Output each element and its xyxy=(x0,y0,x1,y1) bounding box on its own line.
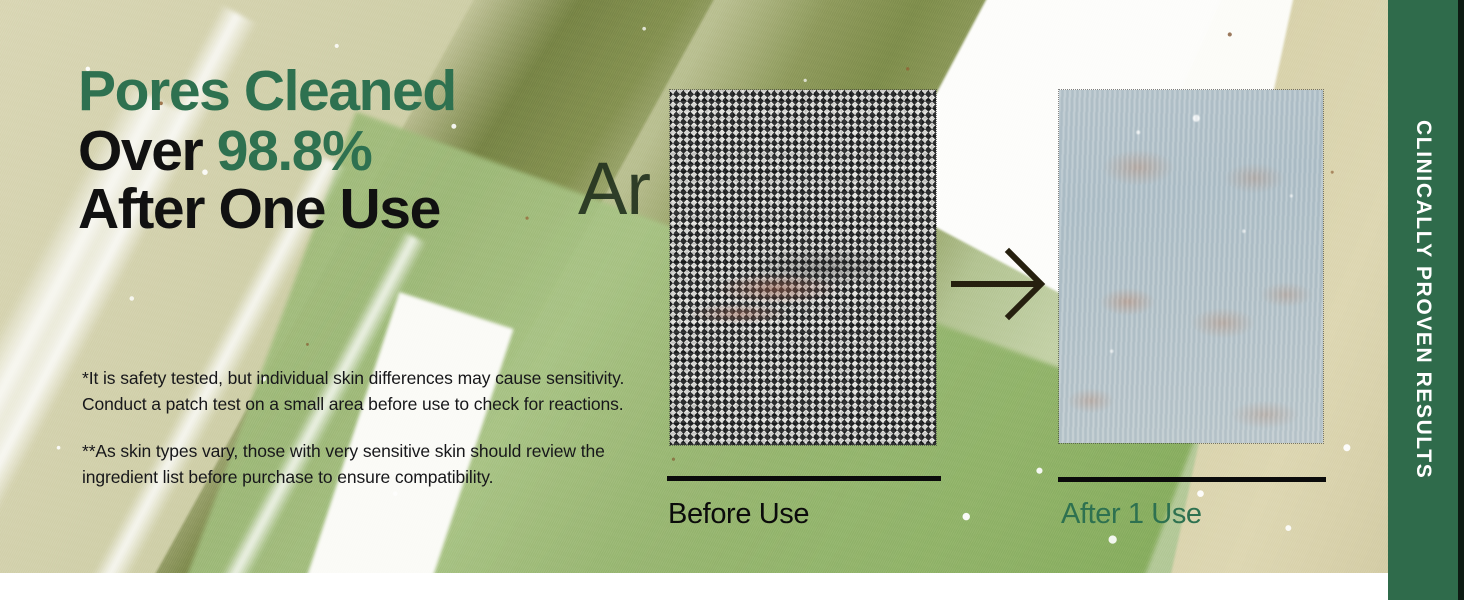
headline-line-2: Over 98.8% xyxy=(78,122,638,180)
right-edge-strip xyxy=(1458,0,1464,600)
after-caption-rule xyxy=(1058,477,1326,482)
headline-line-3-text: After One Use xyxy=(78,177,440,241)
disclaimer-note-1: *It is safety tested, but individual ski… xyxy=(82,366,642,417)
headline-line-2-prefix: Over xyxy=(78,119,217,183)
headline-percentage: 98.8% xyxy=(217,119,372,183)
before-caption-label: Before Use xyxy=(668,498,809,530)
after-smooth-texture xyxy=(1059,90,1323,443)
sidebar-label: CLINICALLY PROVEN RESULTS xyxy=(1411,120,1435,479)
bottom-white-band xyxy=(0,573,1464,600)
before-blemish-overlay xyxy=(670,90,936,445)
clinically-proven-sidebar: CLINICALLY PROVEN RESULTS xyxy=(1388,0,1458,600)
headline-line-1-text: Pores Cleaned xyxy=(78,59,456,123)
disclaimer-block: *It is safety tested, but individual ski… xyxy=(82,366,642,490)
disclaimer-note-2: **As skin types vary, those with very se… xyxy=(82,439,642,490)
promo-banner: Ar Pores Cleaned Over 98.8% After One Us… xyxy=(0,0,1464,600)
after-caption-label: After 1 Use xyxy=(1061,498,1202,530)
before-caption-rule xyxy=(667,476,941,481)
after-image-panel xyxy=(1059,90,1323,443)
headline-block: Pores Cleaned Over 98.8% After One Use xyxy=(78,62,638,238)
headline-line-3: After One Use xyxy=(78,180,638,238)
arrow-right-icon xyxy=(948,246,1048,322)
headline-line-1: Pores Cleaned xyxy=(78,62,638,120)
before-image-panel xyxy=(670,90,936,445)
